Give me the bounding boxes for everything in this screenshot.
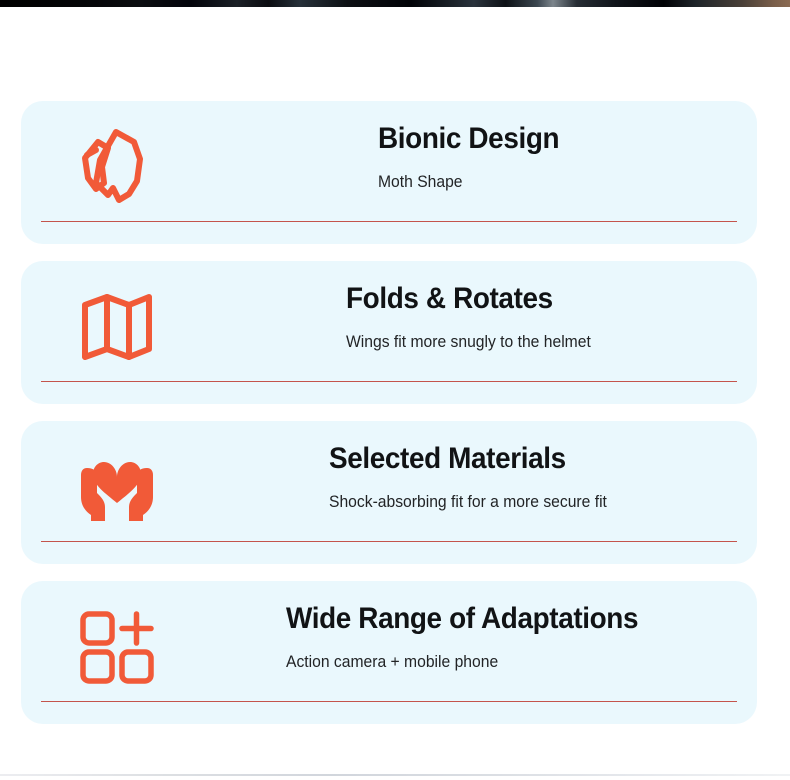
feature-card-text: Wide Range of Adaptations Action camera … — [211, 601, 739, 673]
folded-map-icon — [69, 283, 165, 371]
feature-card-list: Bionic Design Moth Shape — [21, 101, 757, 741]
feature-card[interactable]: Wide Range of Adaptations Action camera … — [21, 581, 757, 724]
card-divider — [41, 381, 737, 382]
feature-card-subtitle: Moth Shape — [378, 171, 563, 193]
bottom-separator-rule — [0, 774, 790, 776]
feature-card-subtitle: Shock-absorbing fit for a more secure fi… — [329, 491, 607, 513]
feature-card[interactable]: Selected Materials Shock-absorbing fit f… — [21, 421, 757, 564]
feature-card-title: Selected Materials — [329, 441, 601, 477]
moth-wing-icon — [69, 123, 165, 211]
feature-card-title: Wide Range of Adaptations — [286, 601, 638, 637]
feature-card-title: Bionic Design — [378, 121, 559, 157]
feature-card-text: Folds & Rotates Wings fit more snugly to… — [211, 281, 739, 353]
card-divider — [41, 541, 737, 542]
card-divider — [41, 701, 737, 702]
heart-in-hands-icon — [69, 443, 165, 531]
feature-card-subtitle: Action camera + mobile phone — [286, 651, 646, 673]
grid-plus-icon — [69, 603, 165, 691]
feature-card-title: Folds & Rotates — [346, 281, 586, 317]
feature-list-page: Bionic Design Moth Shape — [0, 0, 790, 780]
feature-card-text: Selected Materials Shock-absorbing fit f… — [211, 441, 739, 513]
feature-card[interactable]: Bionic Design Moth Shape — [21, 101, 757, 244]
feature-card-subtitle: Wings fit more snugly to the helmet — [346, 331, 591, 353]
card-divider — [41, 221, 737, 222]
feature-card[interactable]: Folds & Rotates Wings fit more snugly to… — [21, 261, 757, 404]
feature-card-text: Bionic Design Moth Shape — [211, 121, 739, 193]
